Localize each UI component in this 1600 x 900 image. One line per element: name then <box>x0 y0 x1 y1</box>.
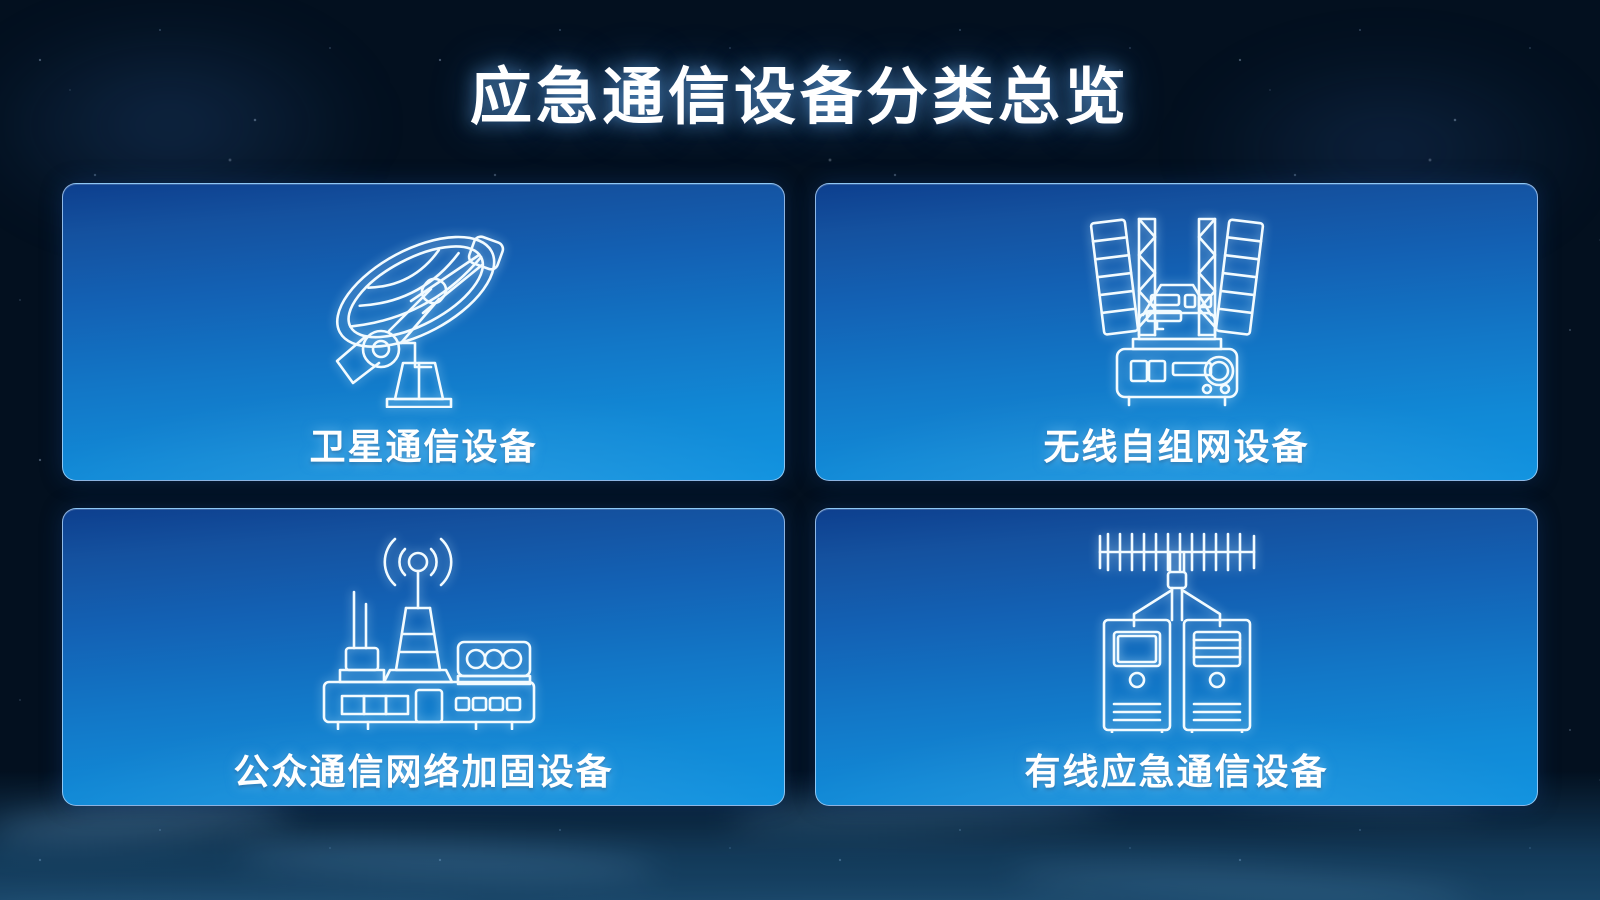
category-card-public-network[interactable]: 公众通信网络加固设备 <box>62 508 785 806</box>
category-card-satellite[interactable]: 卫星通信设备 <box>62 183 785 481</box>
cloud-band <box>1011 860 1472 900</box>
category-card-wired[interactable]: 有线应急通信设备 <box>815 508 1538 806</box>
category-card-label: 卫星通信设备 <box>309 418 537 470</box>
cloud-band <box>236 839 657 884</box>
category-card-adhoc[interactable]: 无线自组网设备 <box>815 183 1538 481</box>
category-card-label: 有线应急通信设备 <box>1024 743 1328 795</box>
ad-hoc-network-station-icon <box>1077 200 1277 410</box>
slide-stage: 应急通信设备分类总览 <box>0 0 1600 900</box>
category-card-grid: 卫星通信设备 <box>62 183 1538 831</box>
cell-tower-equipment-icon <box>306 525 542 735</box>
satellite-dish-icon <box>319 200 529 410</box>
wired-cabinet-yagi-icon <box>1082 525 1272 735</box>
category-card-label: 公众通信网络加固设备 <box>233 743 613 795</box>
category-card-label: 无线自组网设备 <box>1043 418 1309 470</box>
page-title: 应急通信设备分类总览 <box>0 46 1600 136</box>
